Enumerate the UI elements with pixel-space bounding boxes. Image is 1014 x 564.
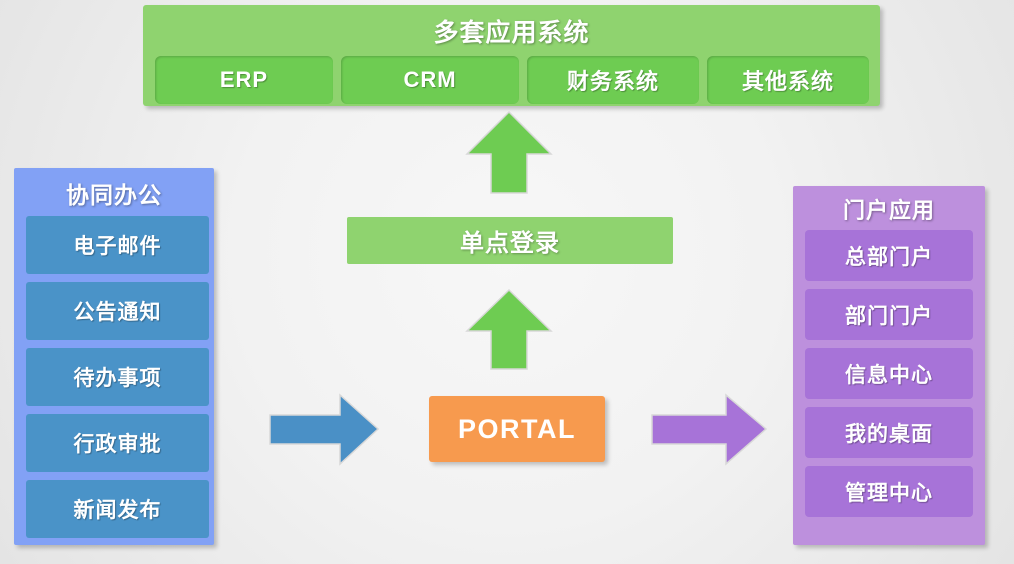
portal-box[interactable]: PORTAL [429, 396, 605, 462]
portal-item-headquarters[interactable]: 总部门户 [805, 230, 973, 281]
portal-item-management-center[interactable]: 管理中心 [805, 466, 973, 517]
single-sign-on-box[interactable]: 单点登录 [347, 217, 673, 264]
office-item-announcement[interactable]: 公告通知 [26, 282, 209, 340]
office-item-administrative-approval[interactable]: 行政审批 [26, 414, 209, 472]
arrow-right-portal-to-apps-icon [650, 393, 768, 466]
app-box-other-systems[interactable]: 其他系统 [707, 56, 869, 104]
multi-application-systems-title: 多套应用系统 [143, 11, 880, 51]
arrow-up-to-sso-icon [465, 288, 553, 371]
arrow-up-to-applications-icon [465, 110, 553, 195]
app-box-crm[interactable]: CRM [341, 56, 519, 104]
office-item-news-publishing[interactable]: 新闻发布 [26, 480, 209, 538]
portal-item-my-desktop[interactable]: 我的桌面 [805, 407, 973, 458]
portal-item-information-center[interactable]: 信息中心 [805, 348, 973, 399]
portal-item-department[interactable]: 部门门户 [805, 289, 973, 340]
multi-application-systems-panel: 多套应用系统 ERP CRM 财务系统 其他系统 [143, 5, 880, 106]
office-item-todo[interactable]: 待办事项 [26, 348, 209, 406]
app-box-erp[interactable]: ERP [155, 56, 333, 104]
app-box-finance-system[interactable]: 财务系统 [527, 56, 699, 104]
portal-applications-panel: 门户应用 总部门户 部门门户 信息中心 我的桌面 管理中心 [793, 186, 985, 545]
collaborative-office-title: 协同办公 [14, 174, 214, 212]
arrow-right-office-to-portal-icon [268, 393, 380, 466]
portal-applications-title: 门户应用 [793, 191, 985, 227]
office-item-email[interactable]: 电子邮件 [26, 216, 209, 274]
diagram-canvas: 多套应用系统 ERP CRM 财务系统 其他系统 单点登录 协同办公 电子邮件 … [0, 0, 1014, 564]
collaborative-office-panel: 协同办公 电子邮件 公告通知 待办事项 行政审批 新闻发布 [14, 168, 214, 545]
